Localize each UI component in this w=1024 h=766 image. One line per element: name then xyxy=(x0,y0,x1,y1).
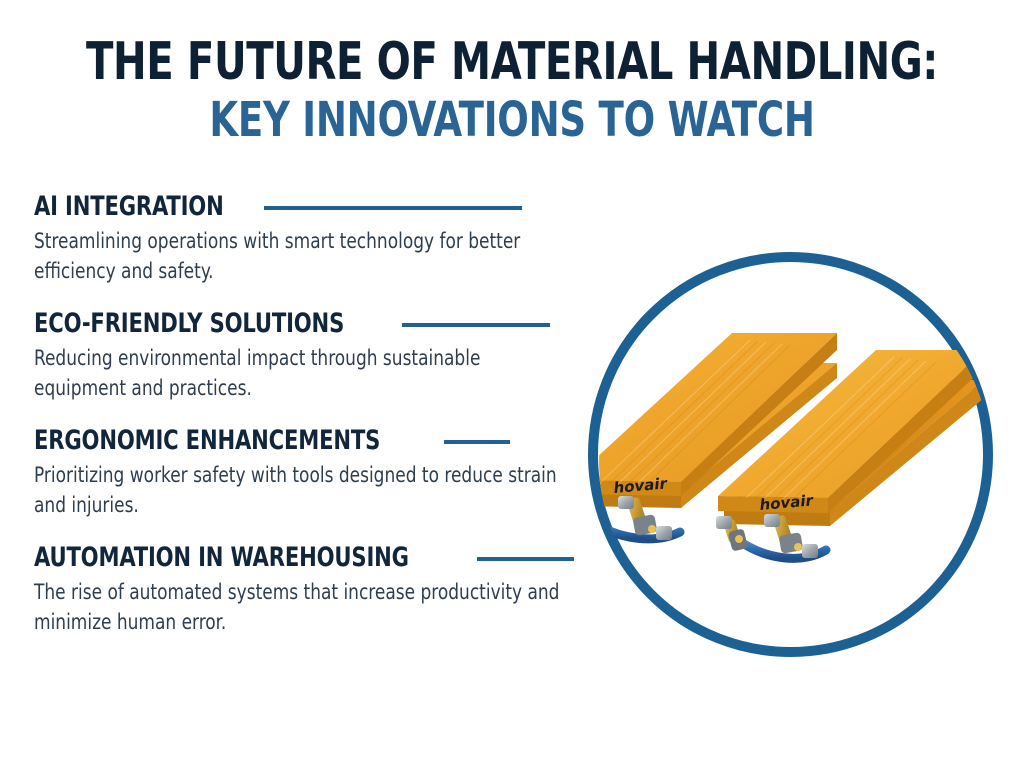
product-photo-ring xyxy=(588,252,993,657)
section-title-ai-integration: AI INTEGRATION xyxy=(34,192,224,222)
section-divider-rule xyxy=(264,206,522,210)
list-item: ECO-FRIENDLY SOLUTIONS Reducing environm… xyxy=(34,309,574,403)
innovations-list: AI INTEGRATION Streamlining operations w… xyxy=(34,192,574,637)
section-header: ERGONOMIC ENHANCEMENTS xyxy=(34,426,574,456)
infographic-canvas: THE FUTURE OF MATERIAL HANDLING: KEY INN… xyxy=(0,0,1024,766)
section-title-automation-in-warehousing: AUTOMATION IN WAREHOUSING xyxy=(34,543,409,573)
section-header: AUTOMATION IN WAREHOUSING xyxy=(34,543,574,573)
section-divider-rule xyxy=(402,323,550,327)
page-title: THE FUTURE OF MATERIAL HANDLING: KEY INN… xyxy=(0,34,1024,146)
section-header: AI INTEGRATION xyxy=(34,192,574,222)
section-divider-rule xyxy=(477,557,574,561)
title-line-secondary: KEY INNOVATIONS TO WATCH xyxy=(72,94,953,146)
section-body-ergonomic-enhancements: Prioritizing worker safety with tools de… xyxy=(34,460,573,520)
list-item: ERGONOMIC ENHANCEMENTS Prioritizing work… xyxy=(34,426,574,520)
section-body-eco-friendly-solutions: Reducing environmental impact through su… xyxy=(34,343,573,403)
list-item: AUTOMATION IN WAREHOUSING The rise of au… xyxy=(34,543,574,637)
section-divider-rule xyxy=(444,440,510,444)
section-header: ECO-FRIENDLY SOLUTIONS xyxy=(34,309,574,339)
section-body-automation-in-warehousing: The rise of automated systems that incre… xyxy=(34,577,573,637)
list-item: AI INTEGRATION Streamlining operations w… xyxy=(34,192,574,286)
section-title-eco-friendly-solutions: ECO-FRIENDLY SOLUTIONS xyxy=(34,309,344,339)
section-title-ergonomic-enhancements: ERGONOMIC ENHANCEMENTS xyxy=(34,426,380,456)
title-line-primary: THE FUTURE OF MATERIAL HANDLING: xyxy=(72,34,953,90)
section-body-ai-integration: Streamlining operations with smart techn… xyxy=(34,226,573,286)
